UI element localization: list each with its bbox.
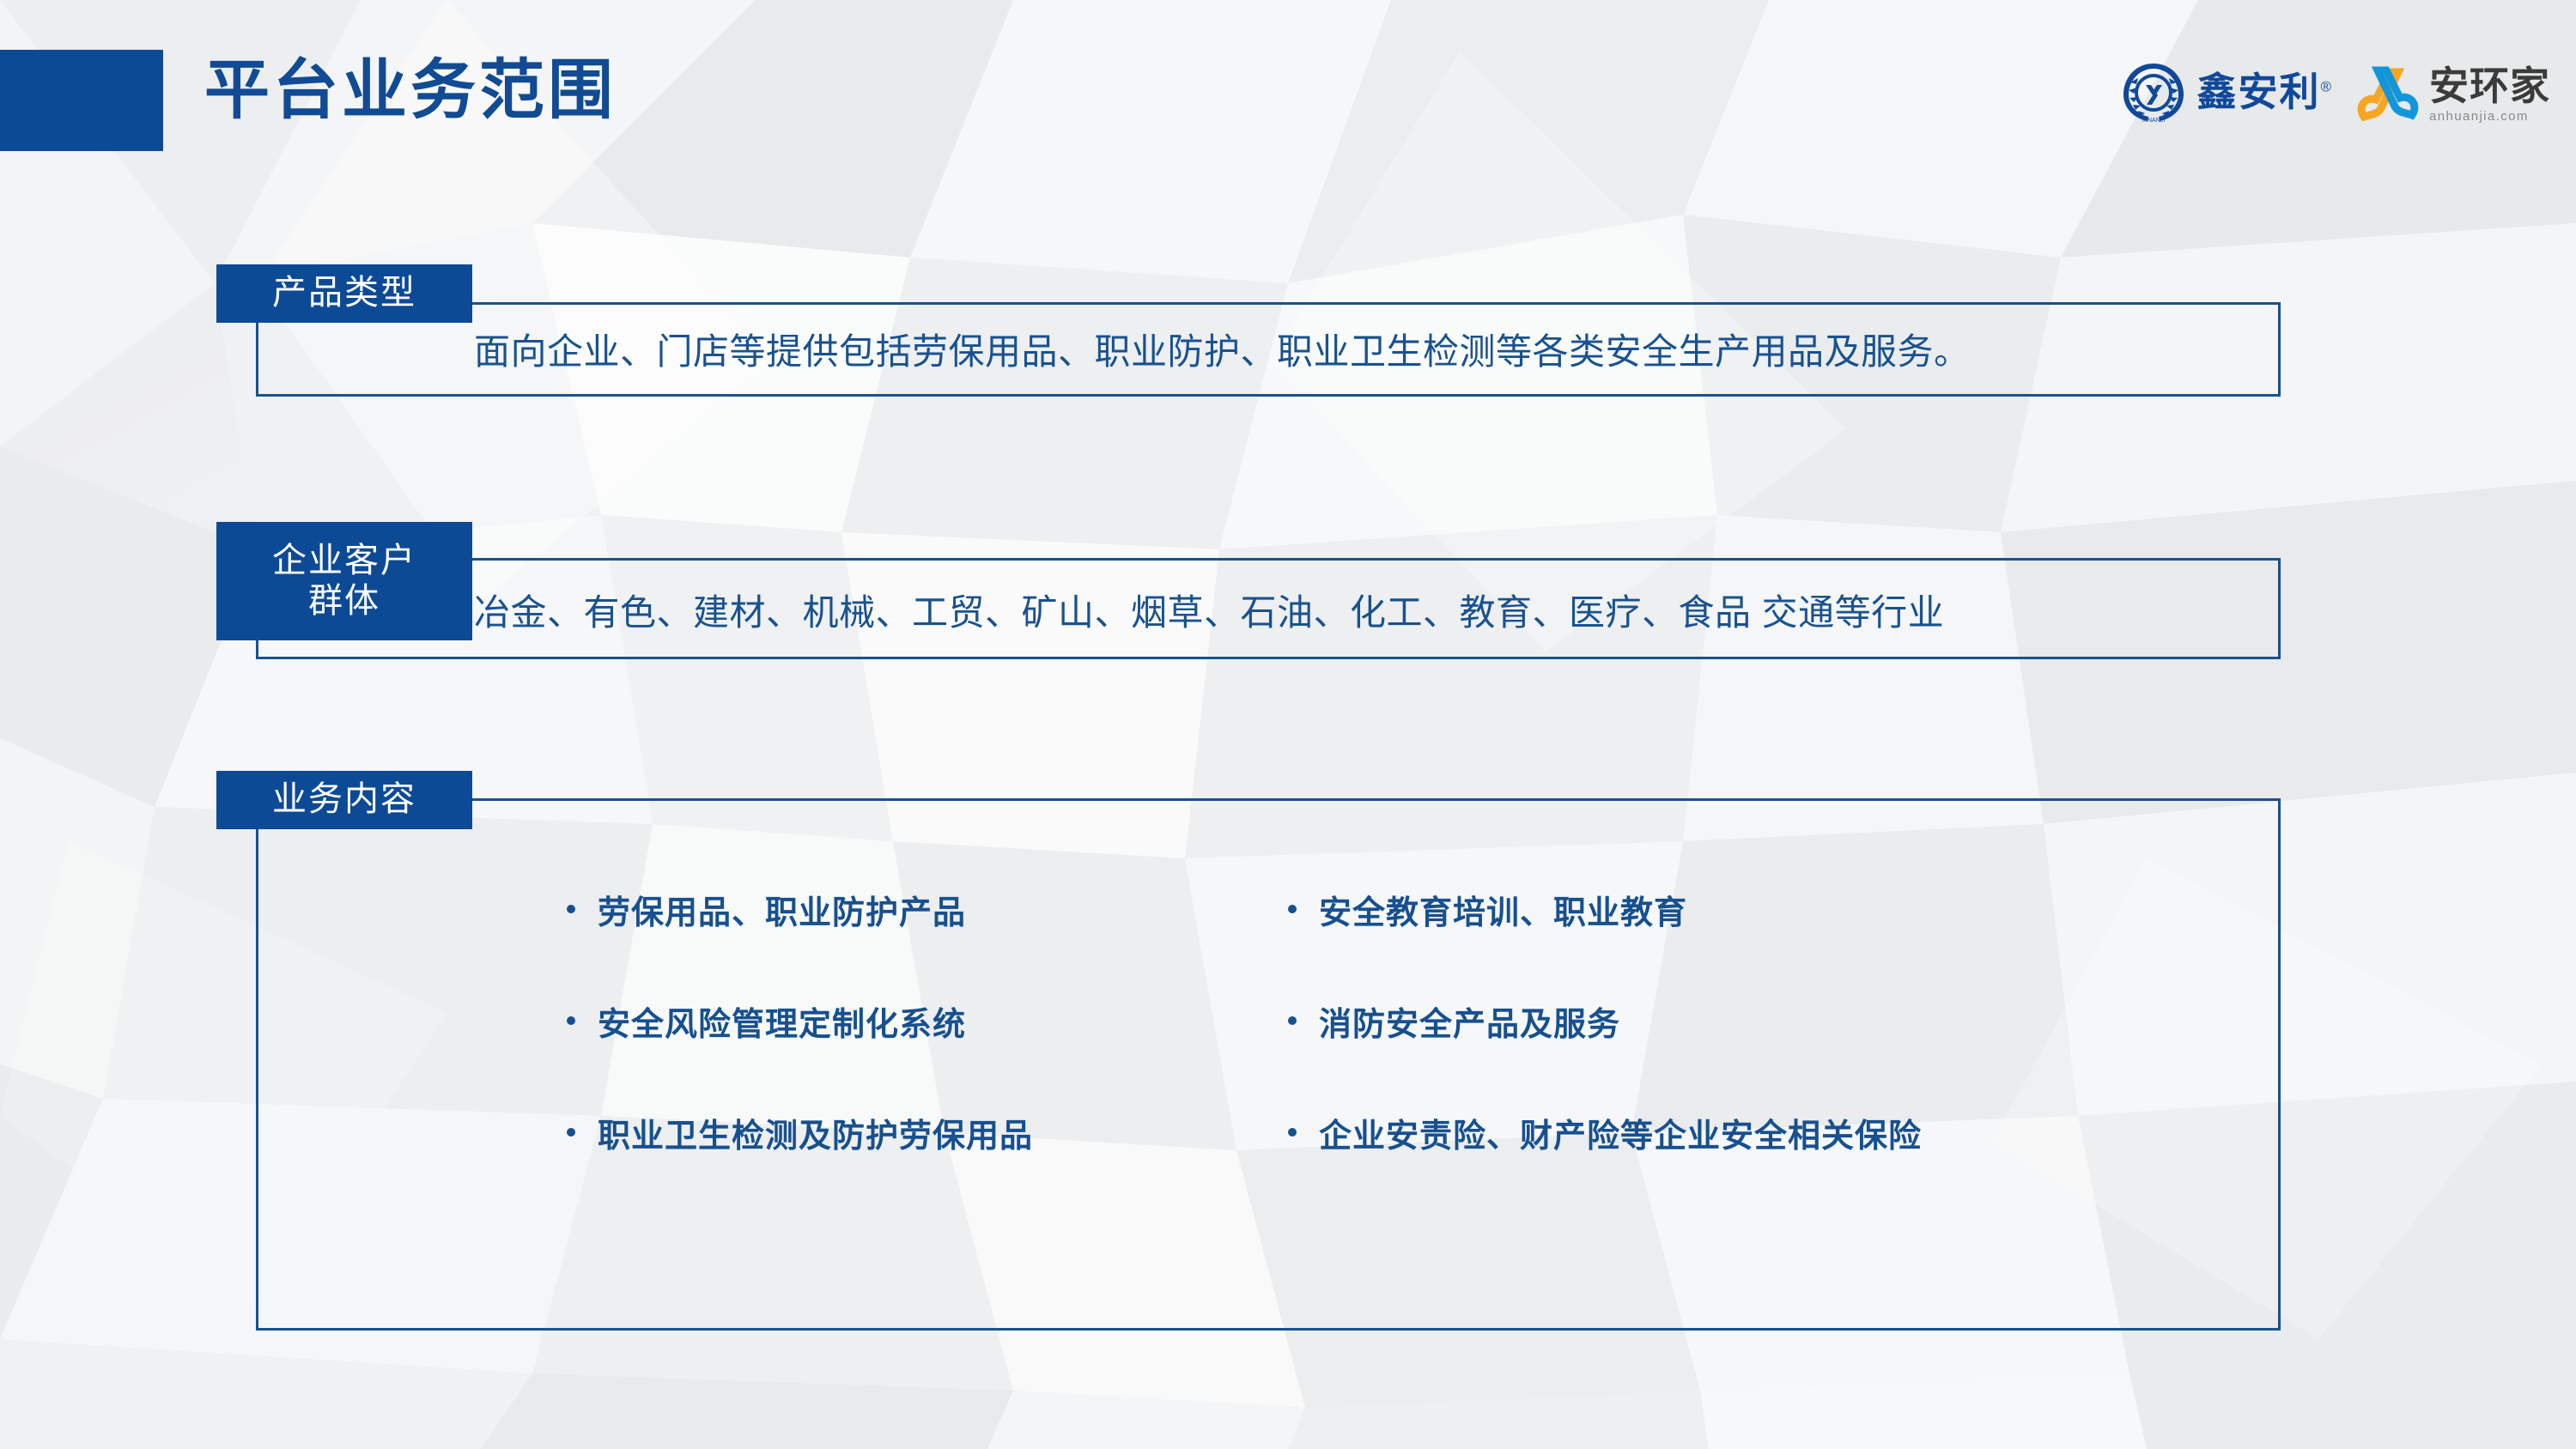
- section-tag-line: 企业客户: [272, 541, 416, 581]
- logo-xinanli: XINANLI 鑫安利®: [2119, 58, 2333, 125]
- list-item: 消防安全产品及服务: [1288, 991, 2078, 1051]
- logo-anhuanjia: 安环家 anhuanjia.com: [2355, 64, 2550, 125]
- registered-trademark-icon: ®: [2320, 79, 2333, 95]
- bullet-dot-icon: [567, 1128, 575, 1137]
- bullet-dot-icon: [1288, 1128, 1297, 1137]
- logo-anhuanjia-url: anhuanjia.com: [2429, 110, 2550, 123]
- section-tag-line: 业务内容: [272, 779, 416, 820]
- list-item-label: 安全风险管理定制化系统: [598, 997, 966, 1045]
- section-body-product-type: 面向企业、门店等提供包括劳保用品、职业防护、职业卫生检测等各类安全生产用品及服务…: [474, 323, 1971, 375]
- logo-anhuanjia-text: 安环家: [2429, 66, 2550, 106]
- list-item-label: 劳保用品、职业防护产品: [598, 886, 966, 933]
- page-title: 平台业务范围: [204, 57, 617, 125]
- slide-canvas: 平台业务范围: [0, 0, 2576, 1449]
- list-item: 职业卫生检测及防护劳保用品: [567, 1102, 1288, 1162]
- bullet-dot-icon: [1288, 1016, 1297, 1025]
- business-content-bullet-grid: 劳保用品、职业防护产品 安全教育培训、职业教育 安全风险管理定制化系统 消防安全…: [567, 879, 2078, 1162]
- list-item: 安全教育培训、职业教育: [1288, 879, 2078, 939]
- section-tag-product-type: 产品类型: [216, 264, 472, 323]
- logo-anhuanjia-wordmark: 安环家 anhuanjia.com: [2429, 66, 2550, 123]
- wreath-emblem-icon: XINANLI: [2119, 58, 2188, 125]
- section-tag-line: 群体: [308, 581, 380, 621]
- list-item-label: 企业安责险、财产险等企业安全相关保险: [1319, 1109, 1922, 1156]
- logo-xinanli-text: 鑫安利: [2196, 70, 2320, 114]
- bullet-dot-icon: [1288, 905, 1297, 913]
- section-tag-line: 产品类型: [272, 273, 416, 313]
- svg-text:XINANLI: XINANLI: [2142, 118, 2166, 124]
- section-body-customer-group: 冶金、有色、建材、机械、工贸、矿山、烟草、石油、化工、教育、医疗、食品 交通等行…: [474, 584, 1944, 636]
- logo-zone: XINANLI 鑫安利® 安环家 anhuanjia.com: [2119, 58, 2550, 125]
- logo-xinanli-wordmark: 鑫安利®: [2196, 72, 2333, 112]
- list-item: 企业安责险、财产险等企业安全相关保险: [1288, 1102, 2078, 1162]
- list-item: 劳保用品、职业防护产品: [567, 879, 1288, 939]
- list-item-label: 安全教育培训、职业教育: [1319, 886, 1687, 933]
- section-tag-business-content: 业务内容: [216, 771, 472, 829]
- list-item-label: 消防安全产品及服务: [1319, 997, 1620, 1045]
- list-item-label: 职业卫生检测及防护劳保用品: [598, 1109, 1033, 1156]
- section-tag-customer-group: 企业客户 群体: [216, 522, 472, 640]
- title-accent-block: [0, 50, 163, 151]
- list-item: 安全风险管理定制化系统: [567, 991, 1288, 1051]
- anhuanjia-arrow-icon: [2355, 64, 2421, 125]
- bullet-dot-icon: [567, 905, 575, 913]
- bullet-dot-icon: [567, 1016, 575, 1025]
